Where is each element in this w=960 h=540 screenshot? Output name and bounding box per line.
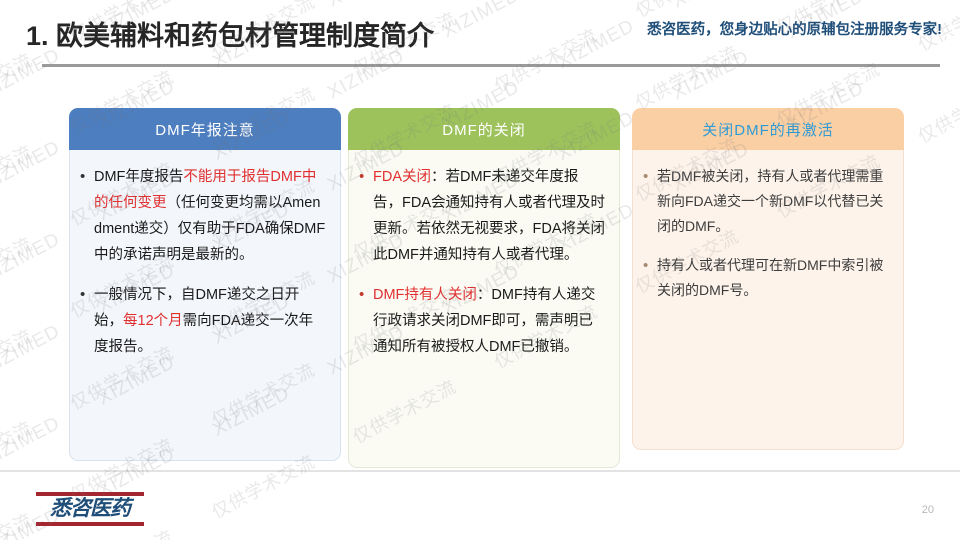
card-body-closed-dmf-reactivation: •若DMF被关闭，持有人或者代理需重新向FDA递交一个新DMF以代替已关闭的DM… bbox=[632, 150, 904, 450]
highlight-text: FDA关闭 bbox=[373, 169, 431, 185]
bullet-item: •FDA关闭：若DMF未递交年度报告，FDA会通知持有人或者代理及时更新。若依然… bbox=[359, 164, 606, 268]
bullet-dot-icon: • bbox=[80, 164, 94, 190]
card-body-dmf-annual-report-notes: •DMF年度报告不能用于报告DMF中的任何变更（任何变更均需以Amendment… bbox=[69, 150, 341, 461]
bullet-dot-icon: • bbox=[80, 282, 94, 308]
logo-bar-bottom bbox=[36, 522, 144, 526]
logo-text: 悉咨医药 bbox=[36, 497, 144, 521]
slide-canvas: 1. 欧美辅料和药包材管理制度简介 悉咨医药，您身边贴心的原辅包注册服务专家! … bbox=[0, 0, 960, 540]
brand-slogan: 悉咨医药，您身边贴心的原辅包注册服务专家! bbox=[647, 18, 942, 39]
bullet-text: DMF持有人关闭：DMF持有人递交行政请求关闭DMF即可，需声明已通知所有被授权… bbox=[373, 282, 606, 360]
bullet-dot-icon: • bbox=[359, 282, 373, 308]
bullet-item: •若DMF被关闭，持有人或者代理需重新向FDA递交一个新DMF以代替已关闭的DM… bbox=[643, 164, 890, 239]
card-dmf-annual-report-notes: DMF年报注意 •DMF年度报告不能用于报告DMF中的任何变更（任何变更均需以A… bbox=[69, 108, 341, 461]
company-logo: 悉咨医药 bbox=[36, 492, 144, 526]
page-number: 20 bbox=[922, 504, 934, 516]
bullet-item: •DMF持有人关闭：DMF持有人递交行政请求关闭DMF即可，需声明已通知所有被授… bbox=[359, 282, 606, 360]
bullet-dot-icon: • bbox=[359, 164, 373, 190]
card-closed-dmf-reactivation: 关闭DMF的再激活 •若DMF被关闭，持有人或者代理需重新向FDA递交一个新DM… bbox=[632, 108, 904, 450]
bullet-text: 一般情况下，自DMF递交之日开始，每12个月需向FDA递交一次年度报告。 bbox=[94, 282, 327, 360]
bullet-text: 持有人或者代理可在新DMF中索引被关闭的DMF号。 bbox=[657, 253, 890, 303]
card-body-dmf-closure: •FDA关闭：若DMF未递交年度报告，FDA会通知持有人或者代理及时更新。若依然… bbox=[348, 150, 620, 468]
bullet-dot-icon: • bbox=[643, 164, 657, 190]
bullet-dot-icon: • bbox=[643, 253, 657, 279]
card-header-closed-dmf-reactivation: 关闭DMF的再激活 bbox=[632, 108, 904, 150]
body-text: DMF年度报告 bbox=[94, 169, 183, 185]
card-header-dmf-annual-report-notes: DMF年报注意 bbox=[69, 108, 341, 150]
bullet-text: 若DMF被关闭，持有人或者代理需重新向FDA递交一个新DMF以代替已关闭的DMF… bbox=[657, 164, 890, 239]
bullet-item: •一般情况下，自DMF递交之日开始，每12个月需向FDA递交一次年度报告。 bbox=[80, 282, 327, 360]
page-title: 1. 欧美辅料和药包材管理制度简介 bbox=[26, 14, 434, 53]
bullet-text: FDA关闭：若DMF未递交年度报告，FDA会通知持有人或者代理及时更新。若依然无… bbox=[373, 164, 606, 268]
bullet-text: DMF年度报告不能用于报告DMF中的任何变更（任何变更均需以Amendment递… bbox=[94, 164, 327, 268]
card-group: DMF年报注意 •DMF年度报告不能用于报告DMF中的任何变更（任何变更均需以A… bbox=[0, 108, 960, 458]
bullet-item: •DMF年度报告不能用于报告DMF中的任何变更（任何变更均需以Amendment… bbox=[80, 164, 327, 268]
body-text: 若DMF被关闭，持有人或者代理需重新向FDA递交一个新DMF以代替已关闭的DMF… bbox=[657, 168, 883, 234]
body-text: 持有人或者代理可在新DMF中索引被关闭的DMF号。 bbox=[657, 257, 883, 298]
card-dmf-closure: DMF的关闭 •FDA关闭：若DMF未递交年度报告，FDA会通知持有人或者代理及… bbox=[348, 108, 620, 468]
card-header-dmf-closure: DMF的关闭 bbox=[348, 108, 620, 150]
title-divider bbox=[42, 64, 940, 67]
logo-bar-top bbox=[36, 492, 144, 496]
highlight-text: 每12个月 bbox=[123, 313, 183, 329]
highlight-text: DMF持有人关闭 bbox=[373, 287, 477, 303]
footer-divider bbox=[0, 470, 960, 472]
bullet-item: •持有人或者代理可在新DMF中索引被关闭的DMF号。 bbox=[643, 253, 890, 303]
